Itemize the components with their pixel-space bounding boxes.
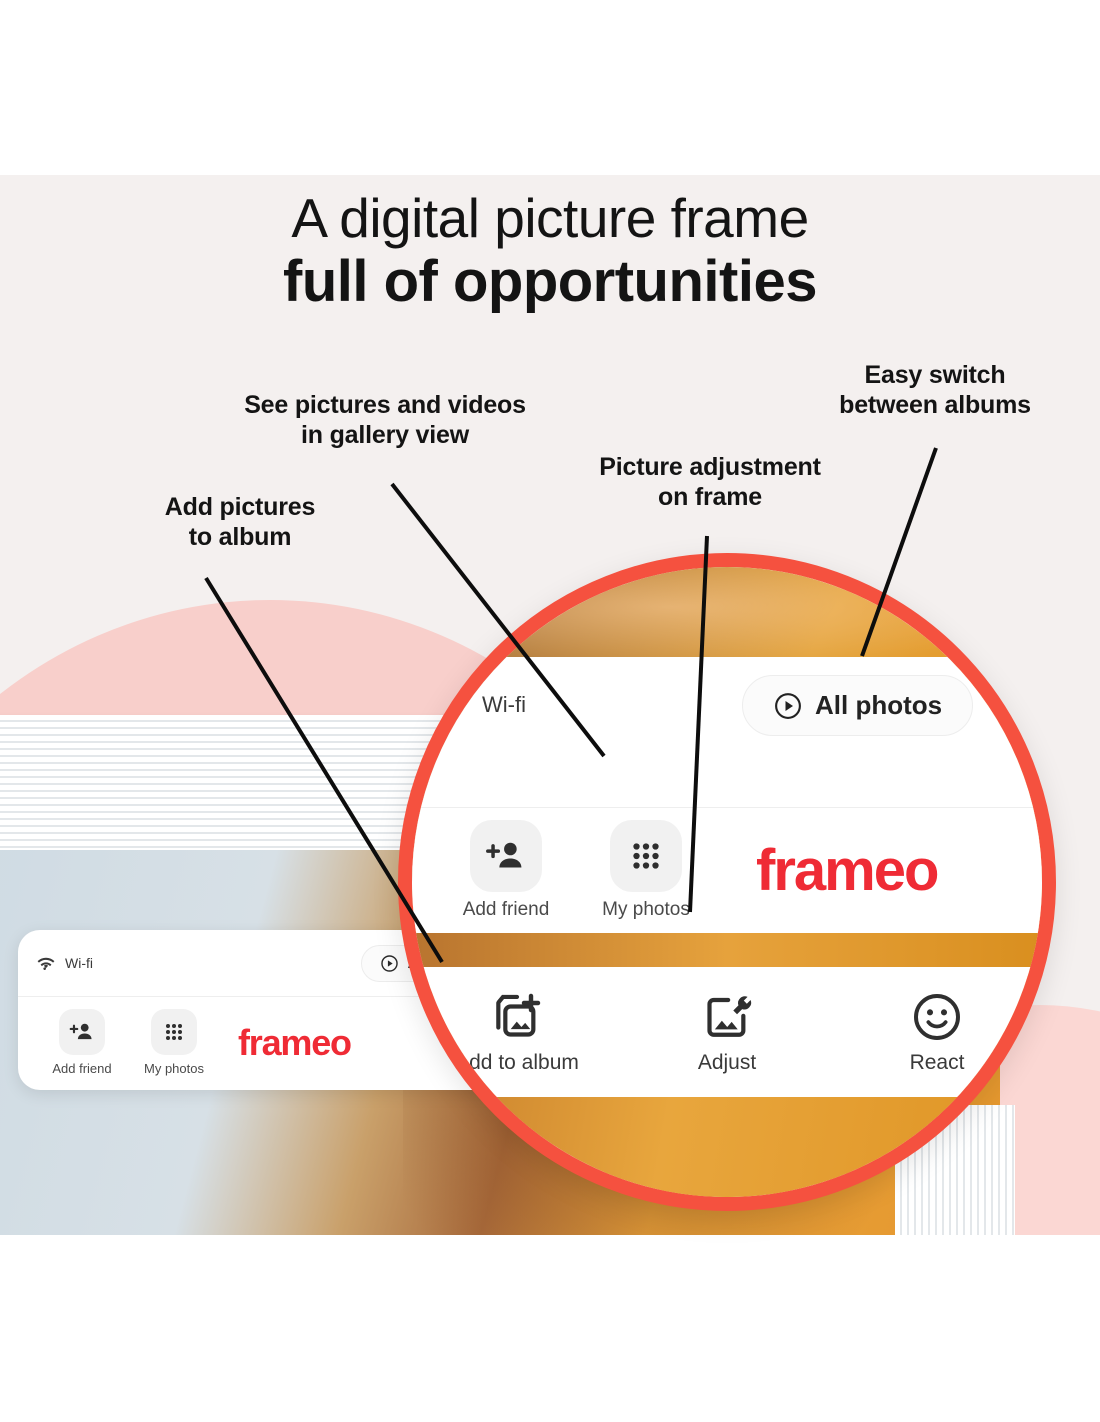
- magnified-album-selector[interactable]: All photos: [742, 675, 973, 736]
- headline-line-1: A digital picture frame: [0, 190, 1100, 246]
- person-add-icon: [59, 1009, 105, 1055]
- magnified-tool-label: React: [842, 1051, 1032, 1075]
- person-add-icon: [470, 820, 542, 892]
- callout-picture-adjust: Picture adjustment on frame: [560, 452, 860, 512]
- magnifier-circle: Wi-fi All photos Add frie: [398, 553, 1056, 1211]
- magnified-frameo-logo: frameo: [756, 837, 937, 904]
- grid-dots-icon: [151, 1009, 197, 1055]
- wifi-icon: [36, 956, 56, 971]
- callout-add-pictures: Add pictures to album: [90, 492, 390, 552]
- background-action-label: Add friend: [36, 1061, 128, 1076]
- background-wifi-label: Wi-fi: [65, 955, 93, 971]
- background-action-my-photos[interactable]: My photos: [128, 1009, 220, 1076]
- magnified-photo-bottom: [412, 1097, 1042, 1207]
- callout-gallery-view: See pictures and videos in gallery view: [200, 390, 570, 450]
- headline-line-2: full of opportunities: [0, 252, 1100, 311]
- magnified-tool-label: Add to album: [422, 1051, 612, 1075]
- grid-dots-icon: [610, 820, 682, 892]
- page-title: A digital picture frame full of opportun…: [0, 190, 1100, 311]
- magnified-action-label: Add friend: [436, 899, 576, 921]
- magnified-tool-react[interactable]: React: [842, 989, 1032, 1075]
- magnified-action-add-friend[interactable]: Add friend: [436, 820, 576, 921]
- photo-wrench-icon: [632, 989, 822, 1045]
- magnified-photo-toolbar: Add to album Adjust: [412, 967, 1042, 1097]
- magnified-album-label: All photos: [815, 690, 942, 721]
- smiley-icon: [842, 989, 1032, 1045]
- background-action-add-friend[interactable]: Add friend: [36, 1009, 128, 1076]
- background-wifi-status: Wi-fi: [36, 955, 93, 971]
- magnified-tool-adjust[interactable]: Adjust: [632, 989, 822, 1075]
- magnified-action-my-photos[interactable]: My photos: [576, 820, 716, 921]
- play-circle-icon: [380, 954, 399, 973]
- magnified-wifi-label: Wi-fi: [482, 692, 526, 718]
- play-circle-icon: [773, 691, 803, 721]
- magnified-action-label: My photos: [576, 899, 716, 921]
- photo-add-icon: [422, 989, 612, 1045]
- magnified-quick-actions: Add friend My photos frameo: [412, 808, 1042, 933]
- background-frameo-logo: frameo: [238, 1022, 351, 1064]
- magnified-tool-add-to-album[interactable]: Add to album: [422, 989, 612, 1075]
- callout-easy-switch: Easy switch between albums: [805, 360, 1065, 420]
- magnified-tool-label: Adjust: [632, 1051, 822, 1075]
- background-action-label: My photos: [128, 1061, 220, 1076]
- magnified-photo-band: [412, 933, 1042, 967]
- poster-canvas: Wi-fi All photos: [0, 0, 1100, 1422]
